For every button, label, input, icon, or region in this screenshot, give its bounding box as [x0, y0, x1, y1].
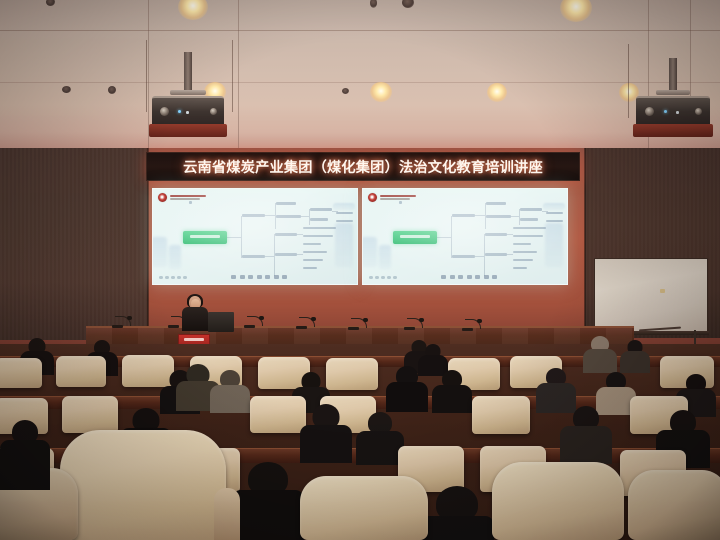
projector-lens-icon [645, 107, 654, 116]
slide-toolbar-icons [369, 276, 397, 280]
wall-panel-left [0, 148, 148, 340]
ceiling-vent [342, 88, 349, 94]
audience-member [232, 462, 304, 540]
foreground-seat [492, 462, 624, 540]
slide-logo [158, 193, 206, 202]
audience-member [300, 404, 352, 460]
audience-seat [250, 396, 306, 433]
event-banner: 云南省煤炭产业集团（煤化集团）法治文化教育培训讲座 [146, 152, 580, 181]
ceiling [0, 0, 720, 150]
foreground-seat [628, 470, 720, 540]
presenter-laptop [208, 312, 234, 332]
microphone [348, 318, 368, 330]
projector-left [152, 52, 224, 142]
audience-member [620, 340, 650, 372]
audience-seat [56, 356, 106, 387]
ceiling-vent [370, 0, 377, 8]
ceiling-downlight [370, 82, 392, 102]
slide-footer-items [441, 275, 497, 280]
slide-highlight-box [183, 231, 227, 244]
audience-member [0, 420, 50, 490]
slide-logo [368, 193, 416, 202]
projector-lens-icon [160, 107, 169, 116]
projector-lens-icon [210, 108, 217, 115]
projection-screen-left [152, 188, 358, 285]
microphone [462, 319, 482, 331]
audience-member [432, 370, 472, 410]
audience-member [386, 366, 428, 410]
ceiling-vent [46, 0, 55, 6]
audience-member [560, 406, 612, 462]
ceiling-downlight [560, 0, 592, 22]
company-logo-icon [368, 193, 377, 202]
company-logo-icon [158, 193, 167, 202]
ceiling-vent [62, 86, 71, 93]
projector-right [636, 58, 710, 148]
slide-highlight-box [393, 231, 437, 244]
ceiling-vent [402, 0, 414, 8]
audience-seat [62, 396, 118, 433]
audience-member [536, 368, 576, 410]
audience-member [356, 412, 404, 462]
auditorium-photo: 云南省煤炭产业集团（煤化集团）法治文化教育培训讲座 [0, 0, 720, 540]
slide-toolbar-icons [159, 276, 187, 280]
seat-armrest [214, 488, 240, 540]
microphone [112, 316, 132, 328]
projector-lens-icon [695, 108, 702, 115]
whiteboard [594, 258, 708, 332]
foreground-seat [300, 476, 428, 540]
microphone [244, 316, 264, 328]
projection-screen-right [362, 188, 568, 285]
ceiling-downlight [487, 83, 507, 102]
foreground-seat [60, 430, 226, 540]
ceiling-vent [108, 86, 116, 94]
audience-member [583, 336, 617, 370]
presenter [182, 296, 208, 330]
microphone [404, 318, 424, 330]
slide-footer-items [231, 275, 287, 280]
audience-member [210, 370, 250, 410]
audience-member [420, 486, 494, 540]
ceiling-downlight [178, 0, 208, 20]
audience-seat [472, 396, 530, 434]
audience-seat [0, 358, 42, 388]
microphone [296, 317, 316, 329]
audience-seat [326, 358, 378, 390]
presenter-body [182, 307, 208, 331]
banner-title-text: 云南省煤炭产业集团（煤化集团）法治文化教育培训讲座 [183, 157, 543, 177]
